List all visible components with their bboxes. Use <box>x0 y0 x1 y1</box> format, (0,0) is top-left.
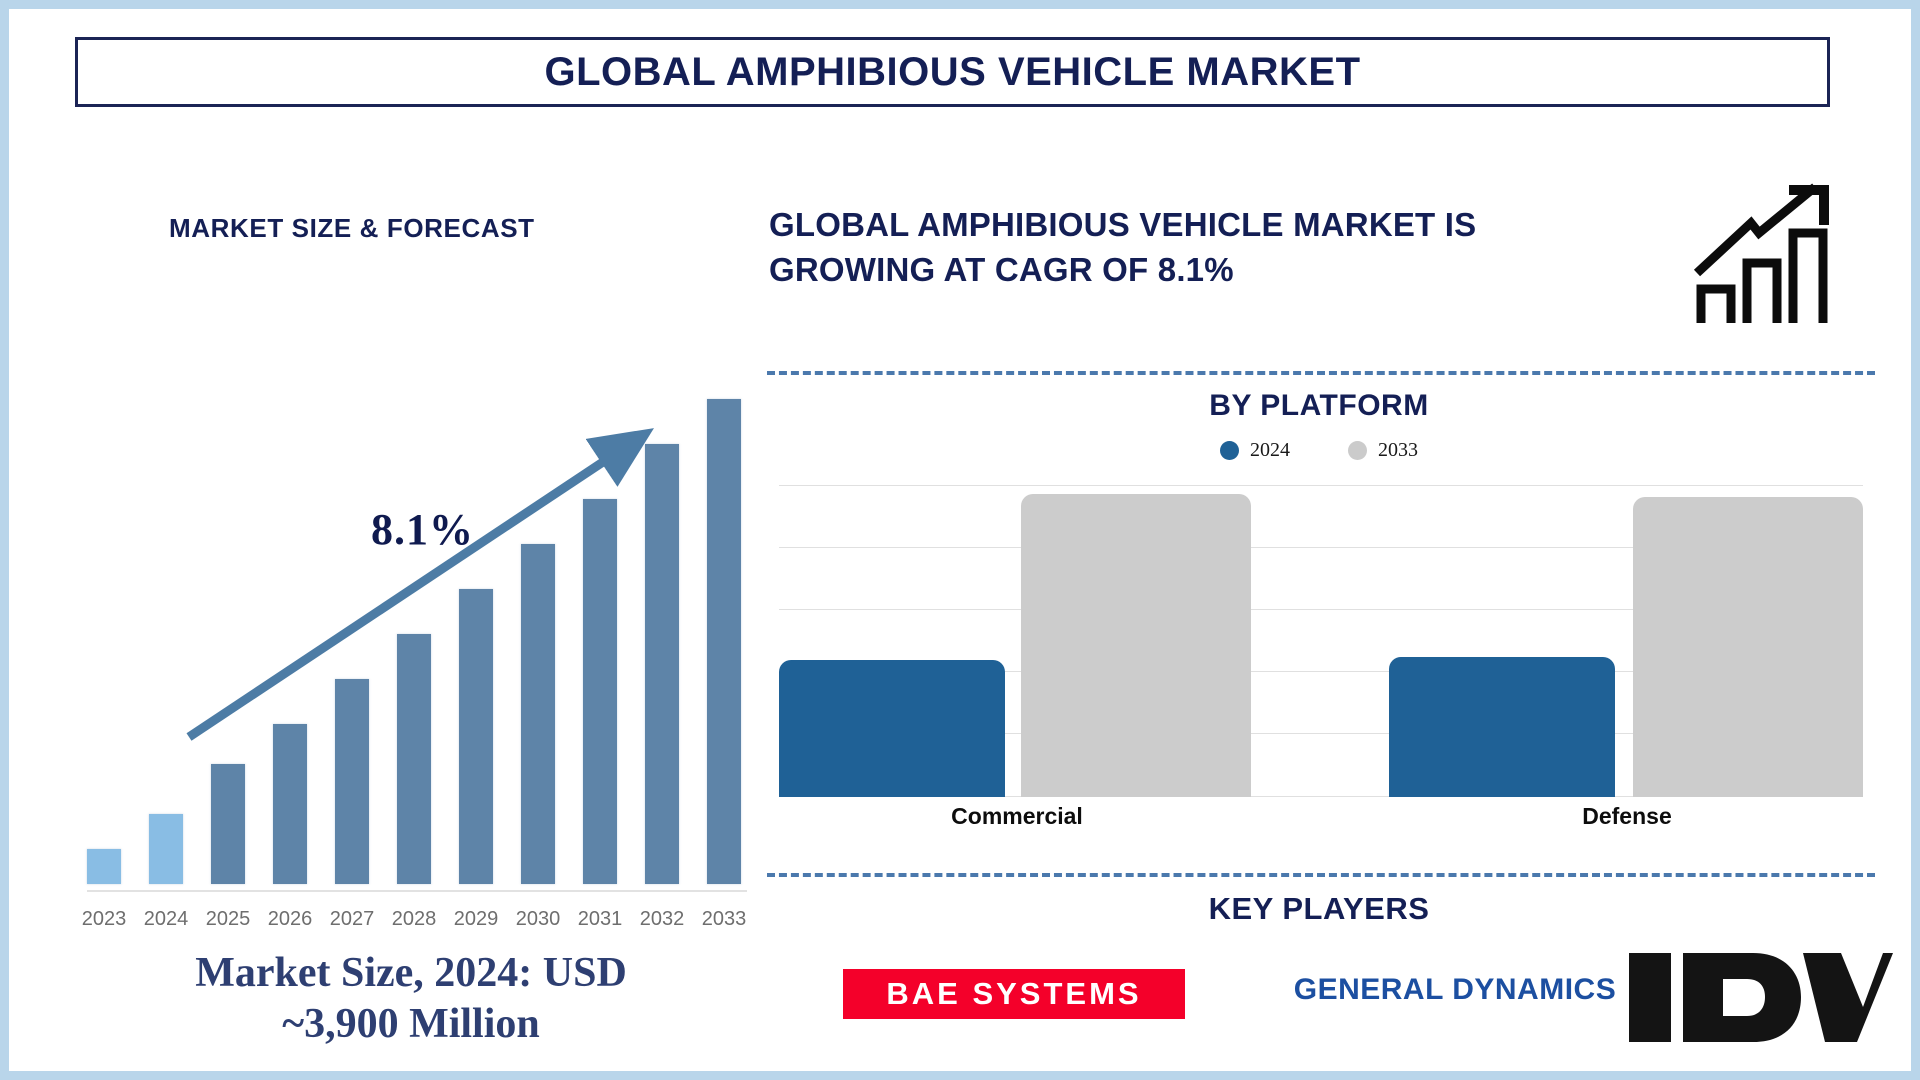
legend-label-2033: 2033 <box>1378 439 1418 462</box>
by-platform-title: BY PLATFORM <box>765 389 1873 423</box>
year-label-2033: 2033 <box>694 908 754 931</box>
right-panel: GLOBAL AMPHIBIOUS VEHICLE MARKET IS GROW… <box>765 189 1875 1059</box>
forecast-bar-2030 <box>521 544 555 884</box>
forecast-bar-2027 <box>335 679 369 884</box>
legend-dot-icon-2033 <box>1348 441 1367 460</box>
by-platform-chart <box>779 485 1863 797</box>
key-players-logos: BAE SYSTEMS GENERAL DYNAMICS <box>765 951 1873 1071</box>
forecast-bar-2031 <box>583 499 617 884</box>
year-label-2030: 2030 <box>508 908 568 931</box>
forecast-bars <box>87 384 747 884</box>
year-label-2025: 2025 <box>198 908 258 931</box>
year-label-2029: 2029 <box>446 908 506 931</box>
market-size-line-1: Market Size, 2024: USD <box>61 948 761 998</box>
idv-logo <box>1625 945 1895 1050</box>
growth-headline: GLOBAL AMPHIBIOUS VEHICLE MARKET IS GROW… <box>769 203 1579 292</box>
legend-item-2024: 2024 <box>1220 439 1290 462</box>
forecast-bar-2023 <box>87 849 121 884</box>
forecast-bar-2026 <box>273 724 307 884</box>
forecast-bar-2033 <box>707 399 741 884</box>
platform-legend: 2024 2033 <box>765 439 1873 462</box>
divider-bottom <box>767 873 1875 877</box>
year-label-2027: 2027 <box>322 908 382 931</box>
year-label-2032: 2032 <box>632 908 692 931</box>
forecast-bar-2024 <box>149 814 183 884</box>
legend-item-2033: 2033 <box>1348 439 1418 462</box>
platform-bar-defense-2033 <box>1633 497 1863 797</box>
forecast-axis-line <box>87 890 747 892</box>
year-label-2028: 2028 <box>384 908 444 931</box>
forecast-bar-2032 <box>645 444 679 884</box>
forecast-bar-2029 <box>459 589 493 884</box>
market-size-forecast-chart: 8.1% <box>61 309 741 1059</box>
page-title: GLOBAL AMPHIBIOUS VEHICLE MARKET <box>544 50 1360 95</box>
market-size-value: Market Size, 2024: USD ~3,900 Million <box>61 948 761 1049</box>
year-label-2026: 2026 <box>260 908 320 931</box>
bar-chart-growth-icon <box>1689 181 1839 331</box>
platform-bar-commercial-2024 <box>779 660 1005 797</box>
legend-dot-icon-2024 <box>1220 441 1239 460</box>
key-players-title: KEY PLAYERS <box>765 891 1873 927</box>
platform-category-labels: Commercial Defense <box>779 803 1863 835</box>
forecast-bar-2028 <box>397 634 431 884</box>
bae-systems-logo-text: BAE SYSTEMS <box>886 976 1141 1012</box>
divider-top <box>767 371 1875 375</box>
forecast-bar-2025 <box>211 764 245 884</box>
category-label-defense: Defense <box>1507 803 1747 830</box>
platform-bar-defense-2024 <box>1389 657 1615 797</box>
general-dynamics-logo-text: GENERAL DYNAMICS <box>1294 973 1616 1006</box>
page-title-box: GLOBAL AMPHIBIOUS VEHICLE MARKET <box>75 37 1830 107</box>
market-size-forecast-panel: MARKET SIZE & FORECAST 8.1% <box>39 199 739 1059</box>
market-size-forecast-heading: MARKET SIZE & FORECAST <box>169 213 535 244</box>
general-dynamics-logo: GENERAL DYNAMICS <box>1245 973 1665 1007</box>
forecast-year-labels: 2023 2024 2025 2026 2027 2028 2029 2030 … <box>87 899 747 931</box>
bae-systems-logo: BAE SYSTEMS <box>843 969 1185 1019</box>
gridline <box>779 485 1863 486</box>
legend-label-2024: 2024 <box>1250 439 1290 462</box>
market-size-line-2: ~3,900 Million <box>61 999 761 1049</box>
year-label-2031: 2031 <box>570 908 630 931</box>
category-label-commercial: Commercial <box>897 803 1137 830</box>
infographic-page: GLOBAL AMPHIBIOUS VEHICLE MARKET MARKET … <box>0 0 1920 1080</box>
year-label-2023: 2023 <box>74 908 134 931</box>
platform-bar-commercial-2033 <box>1021 494 1251 797</box>
year-label-2024: 2024 <box>136 908 196 931</box>
